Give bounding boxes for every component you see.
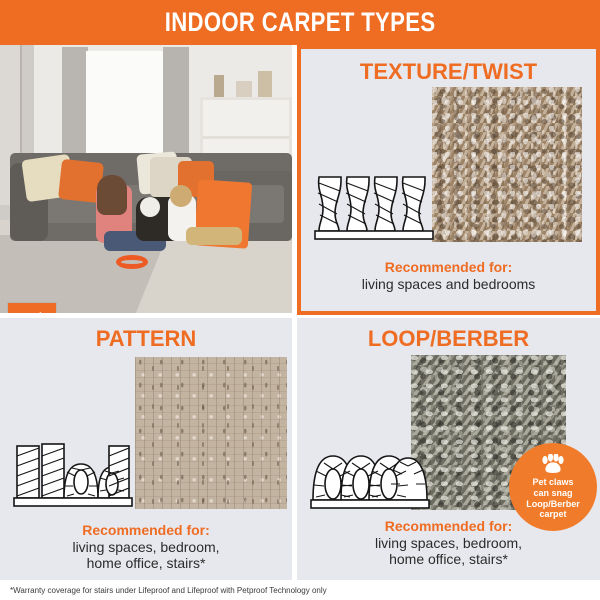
- diagram-texture-twist: [313, 171, 435, 243]
- recommendation-texture-twist: Recommended for: living spaces and bedro…: [301, 259, 596, 292]
- swatch-texture-twist: [432, 87, 582, 242]
- footer: *Warranty coverage for stairs under Life…: [0, 580, 600, 600]
- panel-title-texture-twist: TEXTURE/TWIST: [301, 59, 596, 85]
- photo-dog-toy: [116, 255, 148, 269]
- swatch-pattern: [135, 357, 287, 509]
- photo-floor-blanket: [186, 227, 242, 245]
- header-bar: INDOOR CARPET TYPES: [0, 0, 600, 45]
- living-room-photo-panel: THE HOME DEPOT: [0, 45, 292, 313]
- photo-woman-hair: [97, 175, 127, 215]
- page-title: INDOOR CARPET TYPES: [165, 7, 436, 38]
- panel-texture-twist: TEXTURE/TWIST Recommended for: living sp…: [297, 45, 600, 315]
- diagram-pattern: [12, 438, 134, 510]
- living-room-photo: [0, 45, 292, 313]
- pet-claws-badge: Pet claws can snag Loop/Berber carpet: [509, 443, 597, 531]
- footer-disclaimer: *Warranty coverage for stairs under Life…: [0, 586, 327, 595]
- panel-pattern: PATTERN Recommended for:: [0, 318, 292, 580]
- photo-lamp: [258, 71, 272, 97]
- photo-decor-box: [236, 81, 252, 97]
- recommended-detail: living spaces, bedroom, home office, sta…: [297, 535, 600, 568]
- recommended-label: Recommended for:: [0, 522, 292, 539]
- recommended-detail: living spaces and bedrooms: [301, 276, 596, 293]
- panel-title-pattern: PATTERN: [0, 326, 292, 352]
- recommendation-pattern: Recommended for: living spaces, bedroom,…: [0, 522, 292, 572]
- recommended-label: Recommended for:: [301, 259, 596, 276]
- photo-dog-face: [140, 197, 160, 217]
- logo-text-block: THE HOME DEPOT: [11, 306, 54, 313]
- photo-vase: [214, 75, 224, 97]
- home-depot-logo: THE HOME DEPOT: [8, 303, 56, 313]
- carpet-types-infographic: INDOOR CARPET TYPES: [0, 0, 600, 600]
- recommended-detail: living spaces, bedroom, home office, sta…: [0, 539, 292, 572]
- pet-badge-text: Pet claws can snag Loop/Berber carpet: [526, 477, 580, 521]
- photo-child-hair: [170, 185, 192, 207]
- panel-title-loop-berber: LOOP/BERBER: [297, 326, 600, 352]
- paw-icon: [540, 454, 566, 474]
- diagram-loop-berber: [309, 440, 431, 512]
- photo-window: [86, 51, 164, 169]
